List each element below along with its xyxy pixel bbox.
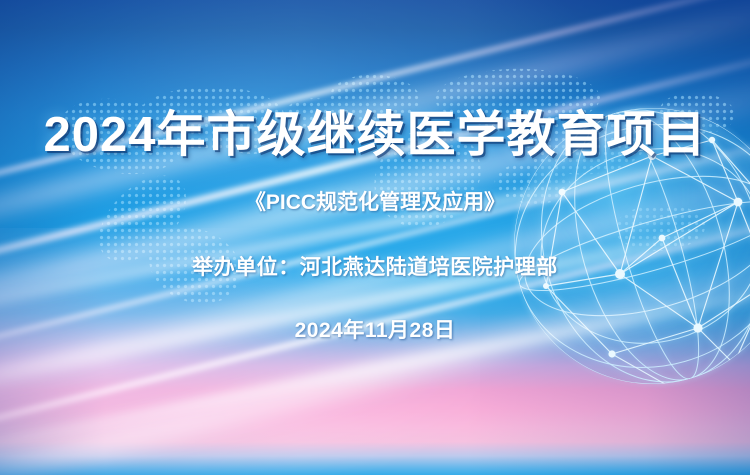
poster-content: 2024年市级继续医学教育项目 《PICC规范化管理及应用》 举办单位：河北燕达…: [0, 0, 750, 475]
poster-date: 2024年11月28日: [295, 314, 456, 344]
poster-organizer: 举办单位：河北燕达陆道培医院护理部: [192, 251, 558, 281]
poster-subtitle: 《PICC规范化管理及应用》: [245, 186, 505, 216]
poster-banner: 2024年市级继续医学教育项目 《PICC规范化管理及应用》 举办单位：河北燕达…: [0, 0, 750, 475]
page-title: 2024年市级继续医学教育项目: [43, 111, 706, 160]
